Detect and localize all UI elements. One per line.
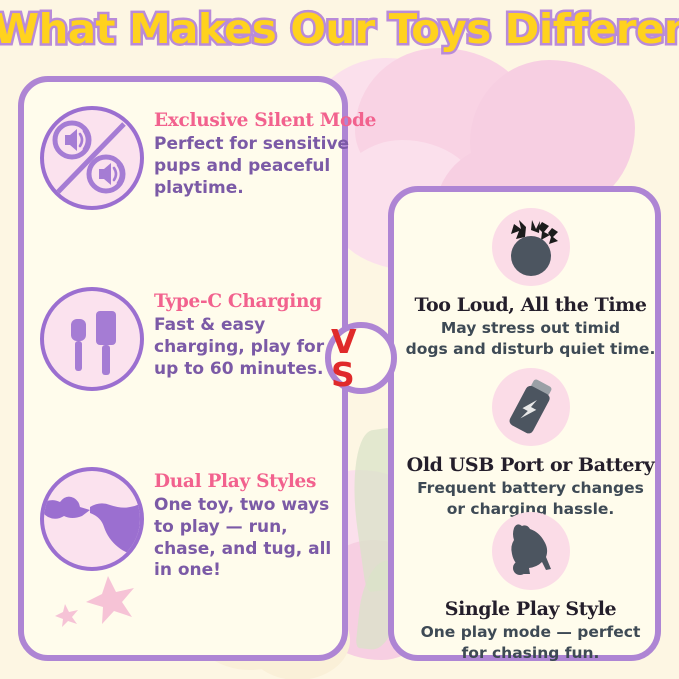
pros-card: Exclusive Silent Mode Perfect for sensit… [18, 76, 348, 661]
cons-card: Too Loud, All the Time May stress out ti… [388, 186, 661, 661]
pro-body: Fast & easy charging, play for up to 60 … [154, 315, 340, 380]
pro-item-silent-mode: Exclusive Silent Mode Perfect for sensit… [40, 106, 340, 210]
pro-item-text: Dual Play Styles One toy, two ways to pl… [154, 467, 340, 582]
con-body-line1: Frequent battery changes [404, 478, 657, 499]
con-heading: Single Play Style [404, 598, 657, 620]
pro-heading: Dual Play Styles [154, 471, 340, 492]
con-heading: Old USB Port or Battery [404, 454, 657, 476]
battery-icon [492, 368, 570, 446]
flower-decoration-small [52, 602, 78, 628]
petal-decoration [355, 48, 530, 198]
con-heading: Too Loud, All the Time [404, 294, 657, 316]
pro-item-dual-play: Dual Play Styles One toy, two ways to pl… [40, 467, 340, 582]
pro-item-text: Exclusive Silent Mode Perfect for sensit… [154, 106, 376, 199]
noisy-ball-icon [492, 208, 570, 286]
con-item-too-loud: Too Loud, All the Time May stress out ti… [404, 208, 657, 359]
vs-badge: V S [325, 322, 397, 394]
two-dogs-tug-icon [40, 467, 144, 571]
pro-item-text: Type-C Charging Fast & easy charging, pl… [154, 287, 340, 380]
pro-body: One toy, two ways to play — run, chase, … [154, 495, 340, 582]
page-title: What Makes Our Toys Different [0, 8, 679, 51]
vs-label: V S [331, 325, 391, 391]
pro-heading: Type-C Charging [154, 291, 340, 312]
title-wrap: What Makes Our Toys Different [0, 8, 679, 51]
con-body-line1: May stress out timid [404, 318, 657, 339]
mute-speaker-icon [40, 106, 144, 210]
usb-c-cable-icon [40, 287, 144, 391]
con-body-line1: One play mode — perfect [404, 622, 657, 643]
sitting-dog-icon [492, 512, 570, 590]
pro-heading: Exclusive Silent Mode [154, 110, 376, 131]
infographic-canvas: What Makes Our Toys Different [0, 0, 679, 679]
pro-body: Perfect for sensitive pups and peaceful … [154, 134, 376, 199]
con-item-battery: Old USB Port or Battery Frequent battery… [404, 368, 657, 519]
pro-item-type-c: Type-C Charging Fast & easy charging, pl… [40, 287, 340, 391]
con-item-single-play: Single Play Style One play mode — perfec… [404, 512, 657, 663]
con-body-line2: for chasing fun. [404, 643, 657, 664]
flower-decoration-large [80, 572, 136, 628]
con-body-line2: dogs and disturb quiet time. [404, 339, 657, 360]
